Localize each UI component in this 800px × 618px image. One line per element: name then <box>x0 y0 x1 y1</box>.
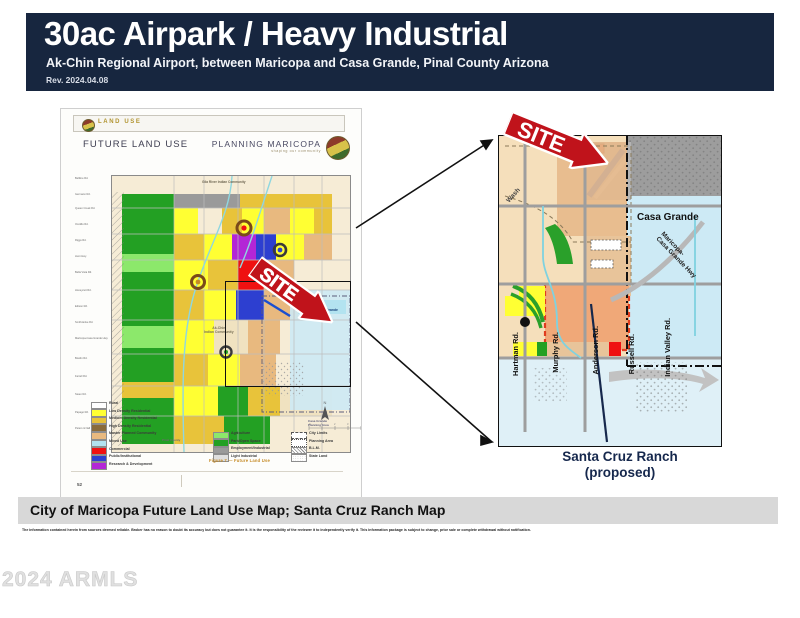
legend-label: Park/Open Space <box>231 439 261 443</box>
callout-line-1: Santa Cruz Ranch <box>520 449 720 465</box>
legend-label: Low Density Residential <box>109 409 150 413</box>
street-label: Smith-Enke Rd. <box>75 321 93 324</box>
legend-swatch-state-land <box>291 454 307 462</box>
street-label: Queen Creek Rd. <box>75 207 95 210</box>
page-subtitle: Ak-Chin Regional Airport, between Marico… <box>46 56 549 70</box>
street-label: Maricopa-Casa Grande Hwy. <box>75 337 108 340</box>
gila-river-community-label: Gila River Indian Community <box>202 180 246 184</box>
north-arrow-and-scale: N 0 1 2 3 Miles <box>303 397 362 437</box>
svg-text:3: 3 <box>347 422 349 426</box>
figure-caption: Figure 7 — Future Land Use <box>209 458 270 463</box>
future-land-use-heading: FUTURE LAND USE <box>83 139 188 150</box>
street-label: Steen Rd. <box>75 393 87 396</box>
title-header-band: 30ac Airpark / Heavy Industrial Ak-Chin … <box>26 13 774 91</box>
street-label: Bowlin Rd. <box>75 357 87 360</box>
page-title: 30ac Airpark / Heavy Industrial <box>44 15 508 53</box>
legend-item: Park/Open Space <box>213 439 293 446</box>
caption-bar: City of Maricopa Future Land Use Map; Sa… <box>18 497 778 524</box>
legend-label: Research & Development <box>109 462 152 466</box>
road-label-murphy: Murphy Rd. <box>551 332 560 373</box>
legend-label: Master Planned Community <box>109 431 156 435</box>
street-label: Germann Rd. <box>75 193 91 196</box>
footer-divider <box>181 475 182 487</box>
street-label: Beltline Rd. <box>75 177 88 180</box>
legend-column-2: Agriculture Park/Open Space Employment/I… <box>213 431 293 461</box>
svg-text:2: 2 <box>334 422 336 426</box>
street-label: Bella Vista Rd. <box>75 271 92 274</box>
legend-item: Mixed Use <box>91 439 201 446</box>
street-label: Ocotillo Rd. <box>75 223 88 226</box>
svg-text:1: 1 <box>321 422 323 426</box>
planning-maricopa-brand: PLANNING MARICOPA <box>212 139 321 149</box>
legend-item: Agriculture <box>213 431 293 438</box>
legend-label: Medium Density Residential <box>109 416 157 420</box>
legend-label: Commercial <box>109 447 130 451</box>
legend-label: High Density Residential <box>109 424 151 428</box>
footer-rule <box>71 471 343 472</box>
street-label: Edison Rd. <box>75 305 88 308</box>
legend-label: Employment/Industrial <box>231 446 270 450</box>
armls-watermark: 2024 ARMLS <box>2 568 138 592</box>
casa-grande-city-label: Casa Grande <box>637 212 699 223</box>
legend-swatch <box>91 462 107 470</box>
planning-maricopa-tagline: shaping our community <box>271 149 321 153</box>
legend-item: Medium Density Residential <box>91 416 201 423</box>
street-label: Riggs Rd. <box>75 239 86 242</box>
legend-item: High Density Residential <box>91 424 201 431</box>
legend-item: Planning Area <box>291 439 347 446</box>
street-label: Farrell Rd. <box>75 375 87 378</box>
legend-column-1: Rural Low Density Residential Medium Den… <box>91 401 201 469</box>
land-use-tab-label: LAND USE <box>98 119 141 125</box>
santa-cruz-ranch-callout: Santa Cruz Ranch (proposed) <box>520 449 720 481</box>
legend-item: Public/Institutional <box>91 454 201 461</box>
street-label: Hunt Hwy. <box>75 255 87 258</box>
legend-item: Low Density Residential <box>91 409 201 416</box>
legend-label: State Land <box>309 454 327 458</box>
road-label-hartman: Hartman Rd. <box>511 332 520 376</box>
road-label-anderson: Anderson Rd. <box>591 326 600 374</box>
legend-label: Mixed Use <box>109 439 127 443</box>
street-label: Honeycutt Rd. <box>75 289 91 292</box>
inset-map-svg <box>499 136 721 446</box>
santa-cruz-ranch-inset-map: Casa Grande Wash Maricopa-Casa Grande Hw… <box>498 135 722 447</box>
legend-item: Commercial <box>91 447 201 454</box>
legend-label: B.L.M. <box>309 446 320 450</box>
street-label: Papago Rd. <box>75 411 89 414</box>
future-land-use-sheet: LAND USE FUTURE LAND USE PLANNING MARICO… <box>60 108 362 502</box>
svg-text:0: 0 <box>309 422 311 426</box>
legend-label: Planning Area <box>309 439 333 443</box>
planning-maricopa-logo-icon <box>326 136 350 160</box>
legend-label: Rural <box>109 401 118 405</box>
road-label-indian-valley: Indian Valley Rd. <box>663 318 672 377</box>
road-label-russell: Russell Rd. <box>627 334 636 374</box>
legend-item: Research & Development <box>91 462 201 469</box>
page-number: 52 <box>77 482 82 487</box>
revision-label: Rev. 2024.04.08 <box>46 75 108 85</box>
maricopa-seal-icon <box>82 119 95 132</box>
land-use-tab-bar: LAND USE <box>73 115 345 132</box>
legend-item: Employment/Industrial <box>213 446 293 453</box>
callout-line-2: (proposed) <box>520 465 720 481</box>
north-label: N <box>324 400 327 405</box>
legend-item: Master Planned Community <box>91 431 201 438</box>
caption-text: City of Maricopa Future Land Use Map; Sa… <box>30 502 445 518</box>
legend-item: State Land <box>291 454 347 461</box>
site-inset-rectangle <box>225 281 351 387</box>
disclaimer-text: The information contained herein from so… <box>22 528 778 532</box>
legend-item: B.L.M. <box>291 446 347 453</box>
legend-item: Rural <box>91 401 201 408</box>
legend-label: Public/Institutional <box>109 454 141 458</box>
legend-label: Agriculture <box>231 431 250 435</box>
